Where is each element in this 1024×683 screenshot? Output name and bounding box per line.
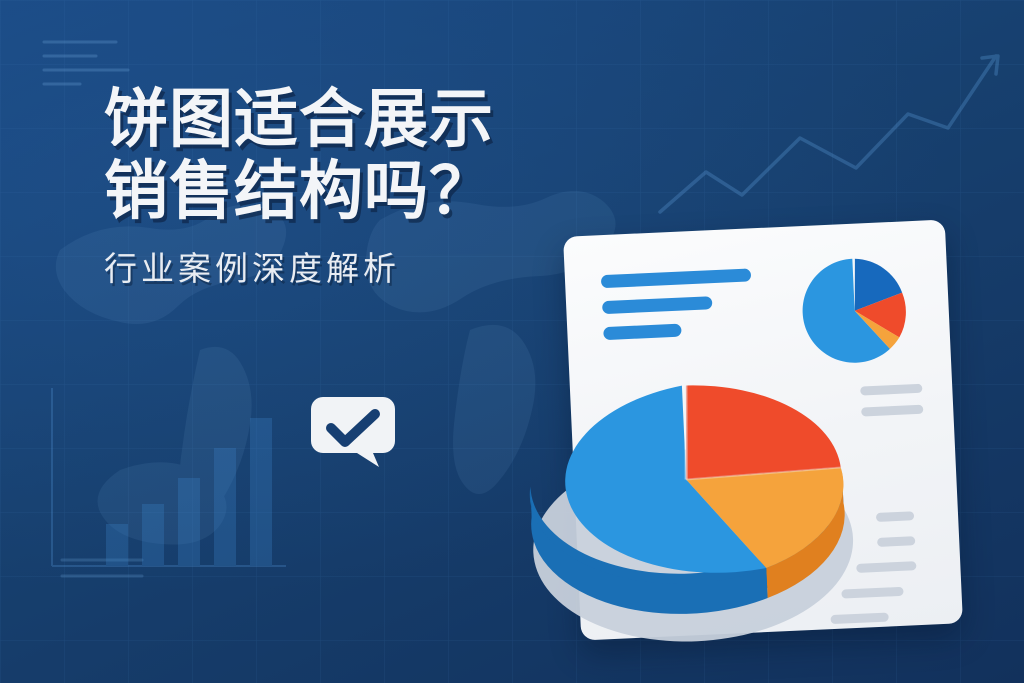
main-pie-chart[interactable] bbox=[493, 319, 877, 655]
check-speech-bubble-icon bbox=[311, 397, 395, 467]
card-text-line-3 bbox=[876, 511, 914, 522]
report-card[interactable] bbox=[563, 220, 963, 641]
page-title-line-1: 饼图适合展示 bbox=[104, 84, 664, 156]
card-text-line-4 bbox=[877, 536, 915, 547]
page-title-line-2: 销售结构吗？ bbox=[104, 156, 664, 228]
poster-canvas: 饼图适合展示 销售结构吗？ 行业案例深度解析 bbox=[0, 0, 1024, 683]
